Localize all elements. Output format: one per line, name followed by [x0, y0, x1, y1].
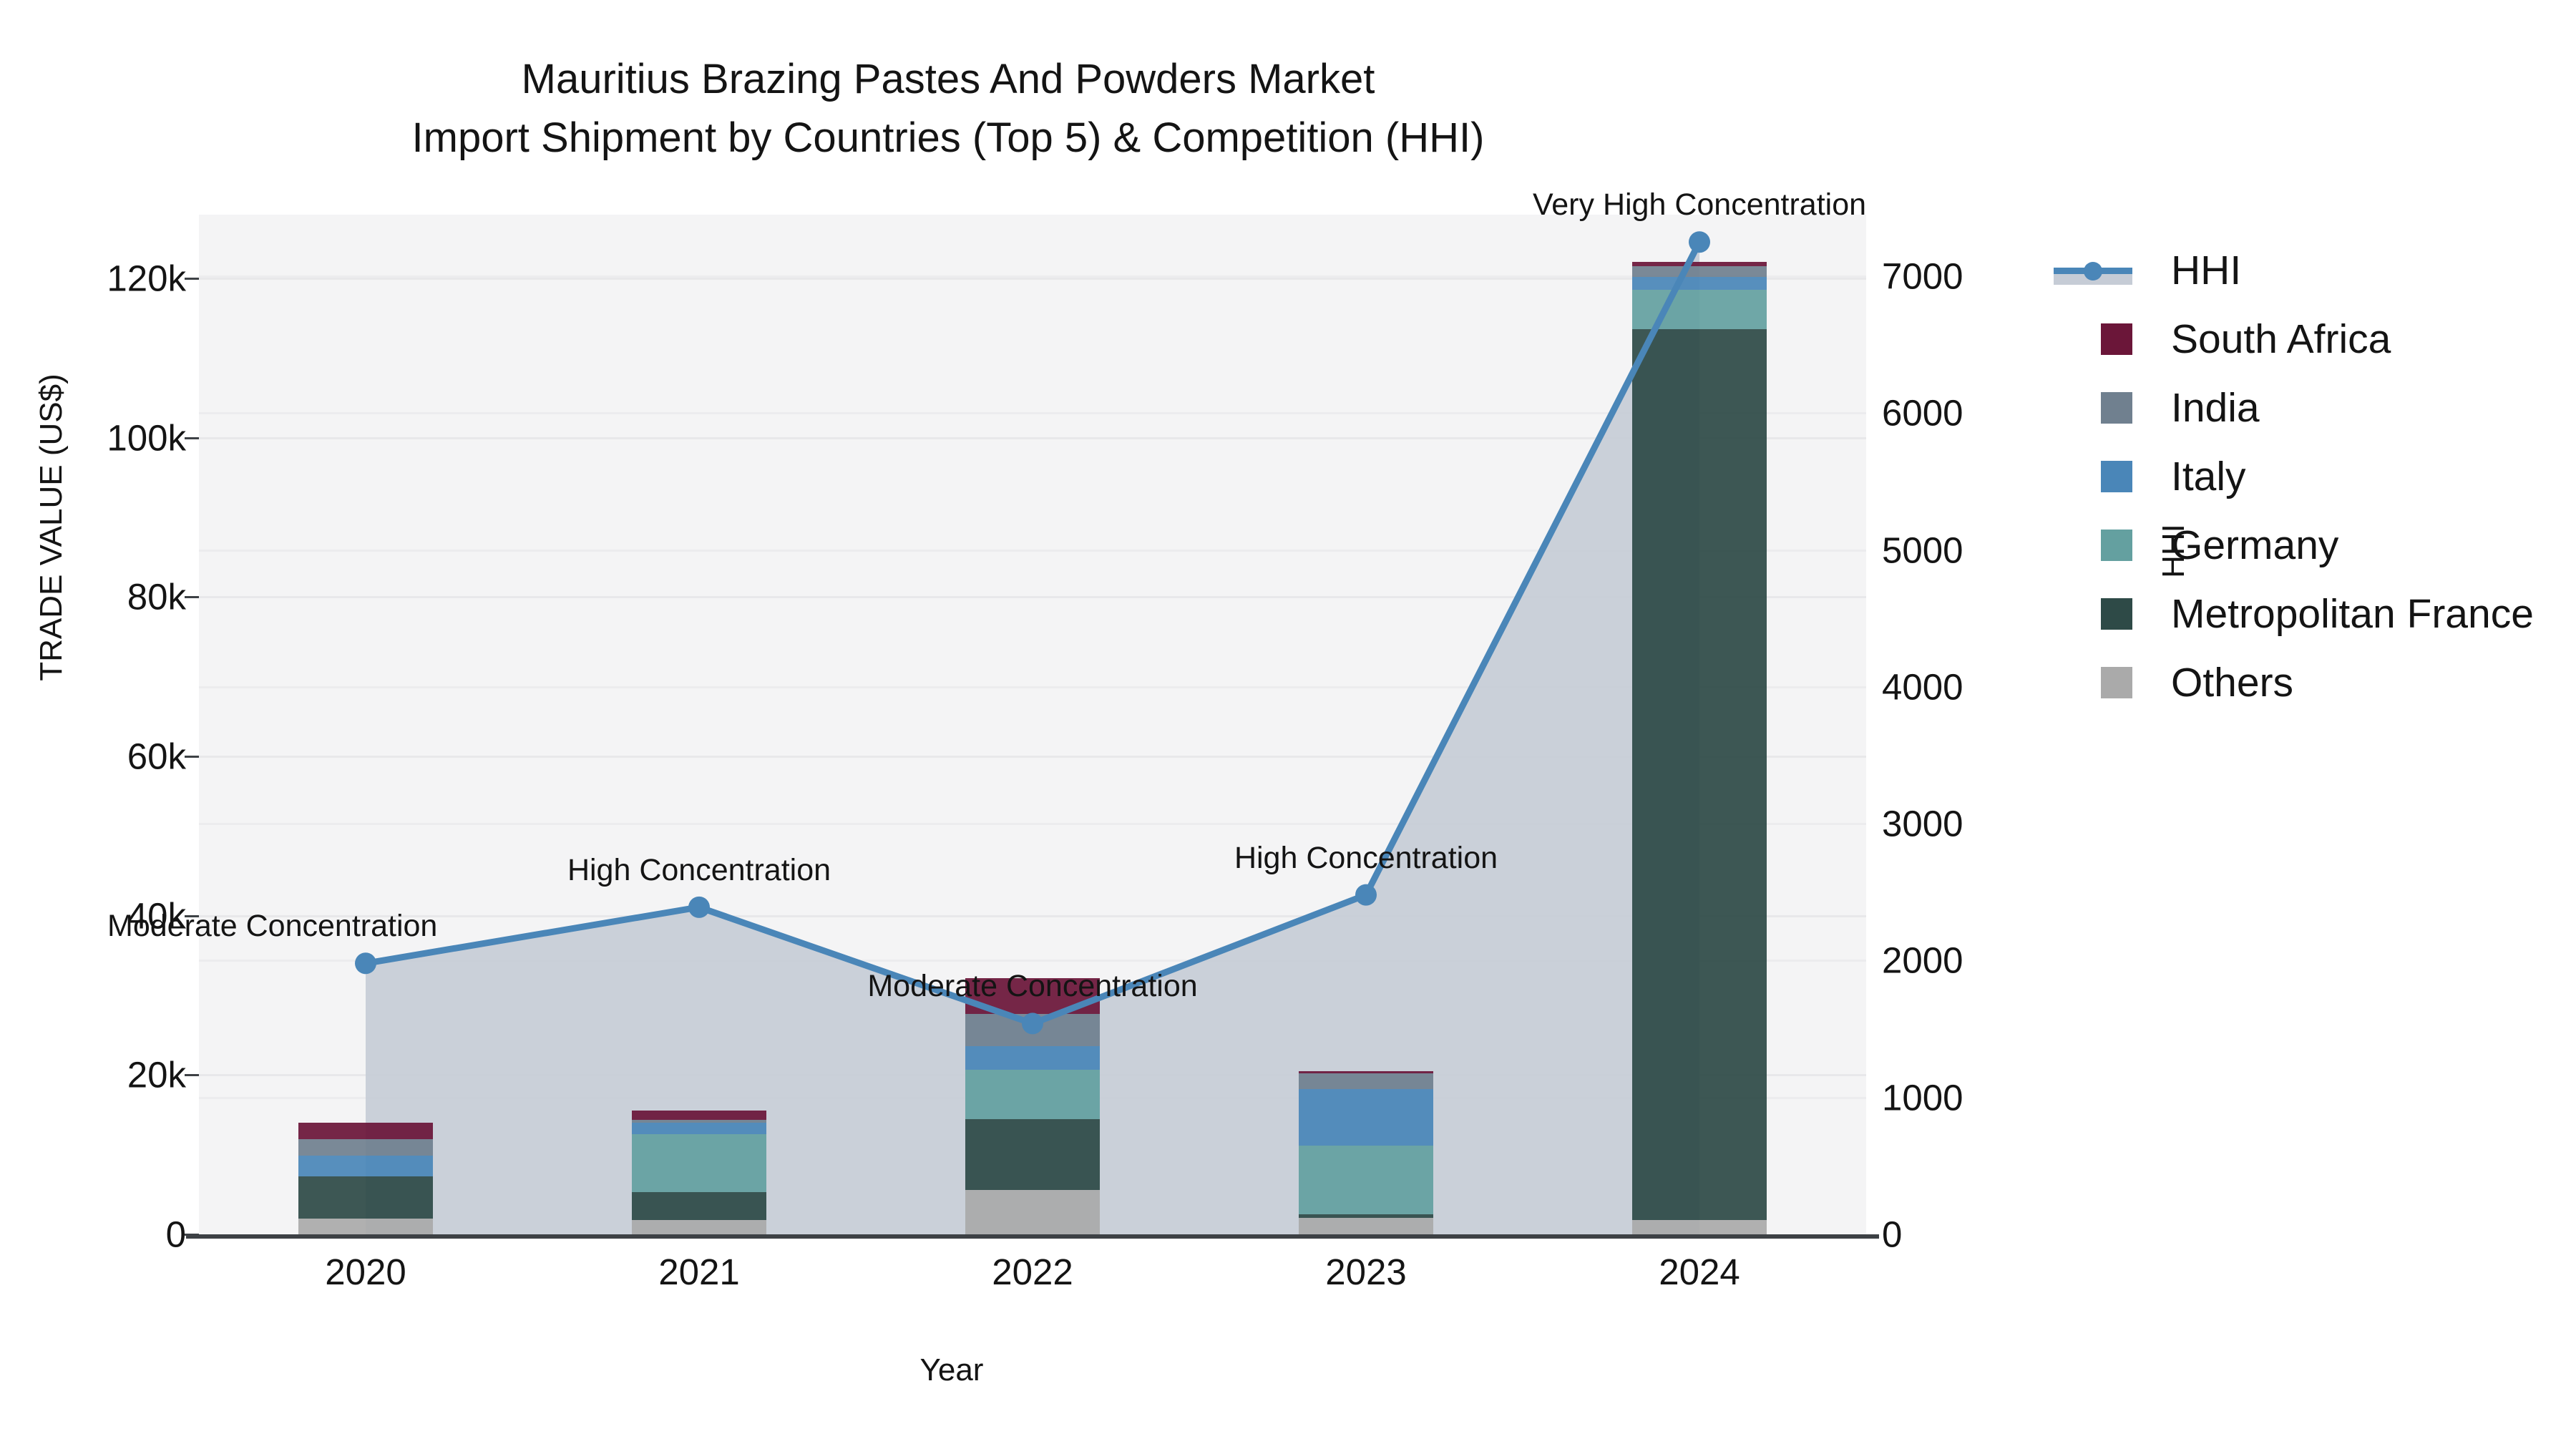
legend-color-swatch: [2101, 392, 2132, 424]
y-axis-left-tick-label: 120k: [14, 258, 186, 300]
legend-line-dot: [2084, 262, 2102, 280]
y-axis-right-tick-label: 6000: [1882, 392, 2054, 434]
legend: HHISouth AfricaIndiaItalyGermanyMetropol…: [2054, 236, 2534, 717]
legend-item-label: Germany: [2171, 522, 2338, 569]
legend-item-label: Italy: [2171, 453, 2246, 500]
bar-segment-india[interactable]: [632, 1120, 766, 1123]
annotation-2020: Moderate Concentration: [107, 909, 437, 944]
bar-segment-others[interactable]: [1299, 1218, 1433, 1234]
x-axis-tick-label-2024: 2024: [1592, 1251, 1807, 1293]
legend-item-south-africa[interactable]: South Africa: [2054, 305, 2534, 374]
y-axis-right-tick-label: 3000: [1882, 803, 2054, 845]
bar-segment-italy[interactable]: [1632, 277, 1767, 289]
x-axis-tick-label-2021: 2021: [592, 1251, 806, 1293]
y-axis-right-tick-label: 1000: [1882, 1076, 2054, 1118]
legend-color-swatch: [2101, 461, 2132, 492]
bar-segment-germany[interactable]: [1632, 290, 1767, 330]
bar-segment-south-africa[interactable]: [1299, 1071, 1433, 1073]
plot-inner: [199, 215, 1866, 1234]
bar-segment-india[interactable]: [1632, 266, 1767, 278]
y-axis-right-tick-label: 0: [1882, 1214, 2054, 1256]
bar-stack-2023[interactable]: [1299, 215, 1433, 1234]
bar-segment-others[interactable]: [298, 1219, 433, 1234]
x-axis-line: [186, 1234, 1879, 1239]
legend-color-swatch: [2101, 530, 2132, 561]
legend-item-label: Others: [2171, 659, 2293, 706]
y-axis-right-tick-label: 5000: [1882, 529, 2054, 571]
bar-segment-india[interactable]: [1299, 1073, 1433, 1090]
annotation-2023: High Concentration: [1234, 841, 1498, 876]
legend-item-label: HHI: [2171, 247, 2241, 294]
bar-segment-metropolitan-france[interactable]: [1632, 329, 1767, 1220]
bar-segment-italy[interactable]: [632, 1123, 766, 1134]
legend-item-metropolitan-france[interactable]: Metropolitan France: [2054, 580, 2534, 648]
legend-color-swatch: [2101, 323, 2132, 355]
x-axis-tick-label-2023: 2023: [1259, 1251, 1473, 1293]
bar-segment-germany[interactable]: [632, 1134, 766, 1192]
x-axis-tick-label-2020: 2020: [258, 1251, 473, 1293]
chart-canvas: Mauritius Brazing Pastes And Powders Mar…: [0, 0, 2576, 1449]
bar-segment-italy[interactable]: [298, 1156, 433, 1176]
legend-item-others[interactable]: Others: [2054, 648, 2534, 717]
bar-segment-india[interactable]: [298, 1139, 433, 1156]
legend-item-label: India: [2171, 384, 2260, 431]
bar-segment-metropolitan-france[interactable]: [298, 1176, 433, 1219]
legend-color-swatch: [2101, 598, 2132, 630]
y-axis-right-tick-label: 4000: [1882, 665, 2054, 708]
bar-stack-2020[interactable]: [298, 215, 433, 1234]
y-axis-left-title: TRADE VALUE (US$): [34, 313, 69, 742]
bar-segment-south-africa[interactable]: [1632, 262, 1767, 266]
bar-segment-italy[interactable]: [965, 1046, 1100, 1069]
annotation-2022: Moderate Concentration: [867, 969, 1197, 1004]
legend-item-label: South Africa: [2171, 316, 2391, 363]
y-axis-left-tick-label: 0: [14, 1214, 186, 1256]
y-axis-left-tick-mark: [185, 1074, 199, 1076]
bar-segment-south-africa[interactable]: [632, 1111, 766, 1120]
annotation-2021: High Concentration: [567, 853, 831, 888]
chart-title: Mauritius Brazing Pastes And Powders Mar…: [0, 50, 1896, 168]
legend-color-swatch: [2101, 667, 2132, 698]
y-axis-left-tick-mark: [185, 278, 199, 280]
legend-item-label: Metropolitan France: [2171, 590, 2534, 638]
bar-segment-germany[interactable]: [1299, 1146, 1433, 1214]
bar-segment-metropolitan-france[interactable]: [1299, 1214, 1433, 1218]
bar-stack-2022[interactable]: [965, 215, 1100, 1234]
chart-title-line2: Import Shipment by Countries (Top 5) & C…: [0, 109, 1896, 167]
chart-title-line1: Mauritius Brazing Pastes And Powders Mar…: [0, 50, 1896, 109]
bar-segment-others[interactable]: [965, 1190, 1100, 1234]
annotation-2024: Very High Concentration: [1533, 187, 1866, 223]
bar-segment-metropolitan-france[interactable]: [965, 1119, 1100, 1190]
x-axis-tick-label-2022: 2022: [925, 1251, 1140, 1293]
y-axis-left-tick-mark: [185, 756, 199, 758]
bar-segment-others[interactable]: [632, 1220, 766, 1234]
legend-item-hhi[interactable]: HHI: [2054, 236, 2534, 305]
bar-segment-others[interactable]: [1632, 1220, 1767, 1234]
bar-segment-metropolitan-france[interactable]: [632, 1192, 766, 1220]
x-axis-title: Year: [0, 1352, 1903, 1388]
y-axis-right-tick-label: 7000: [1882, 255, 2054, 298]
bar-stack-2024[interactable]: [1632, 215, 1767, 1234]
legend-item-italy[interactable]: Italy: [2054, 442, 2534, 511]
y-axis-right-tick-label: 2000: [1882, 940, 2054, 982]
legend-item-germany[interactable]: Germany: [2054, 511, 2534, 580]
legend-item-india[interactable]: India: [2054, 374, 2534, 442]
y-axis-left-tick-mark: [185, 437, 199, 439]
plot-area: [199, 215, 1866, 1234]
bar-segment-india[interactable]: [965, 1014, 1100, 1047]
bar-segment-germany[interactable]: [965, 1070, 1100, 1119]
bar-segment-italy[interactable]: [1299, 1089, 1433, 1146]
y-axis-left-tick-mark: [185, 1234, 199, 1236]
y-axis-left-tick-label: 20k: [14, 1054, 186, 1096]
bar-segment-south-africa[interactable]: [298, 1123, 433, 1139]
legend-line-marker-icon: [2054, 255, 2132, 286]
y-axis-left-tick-mark: [185, 596, 199, 598]
bar-stack-2021[interactable]: [632, 215, 766, 1234]
